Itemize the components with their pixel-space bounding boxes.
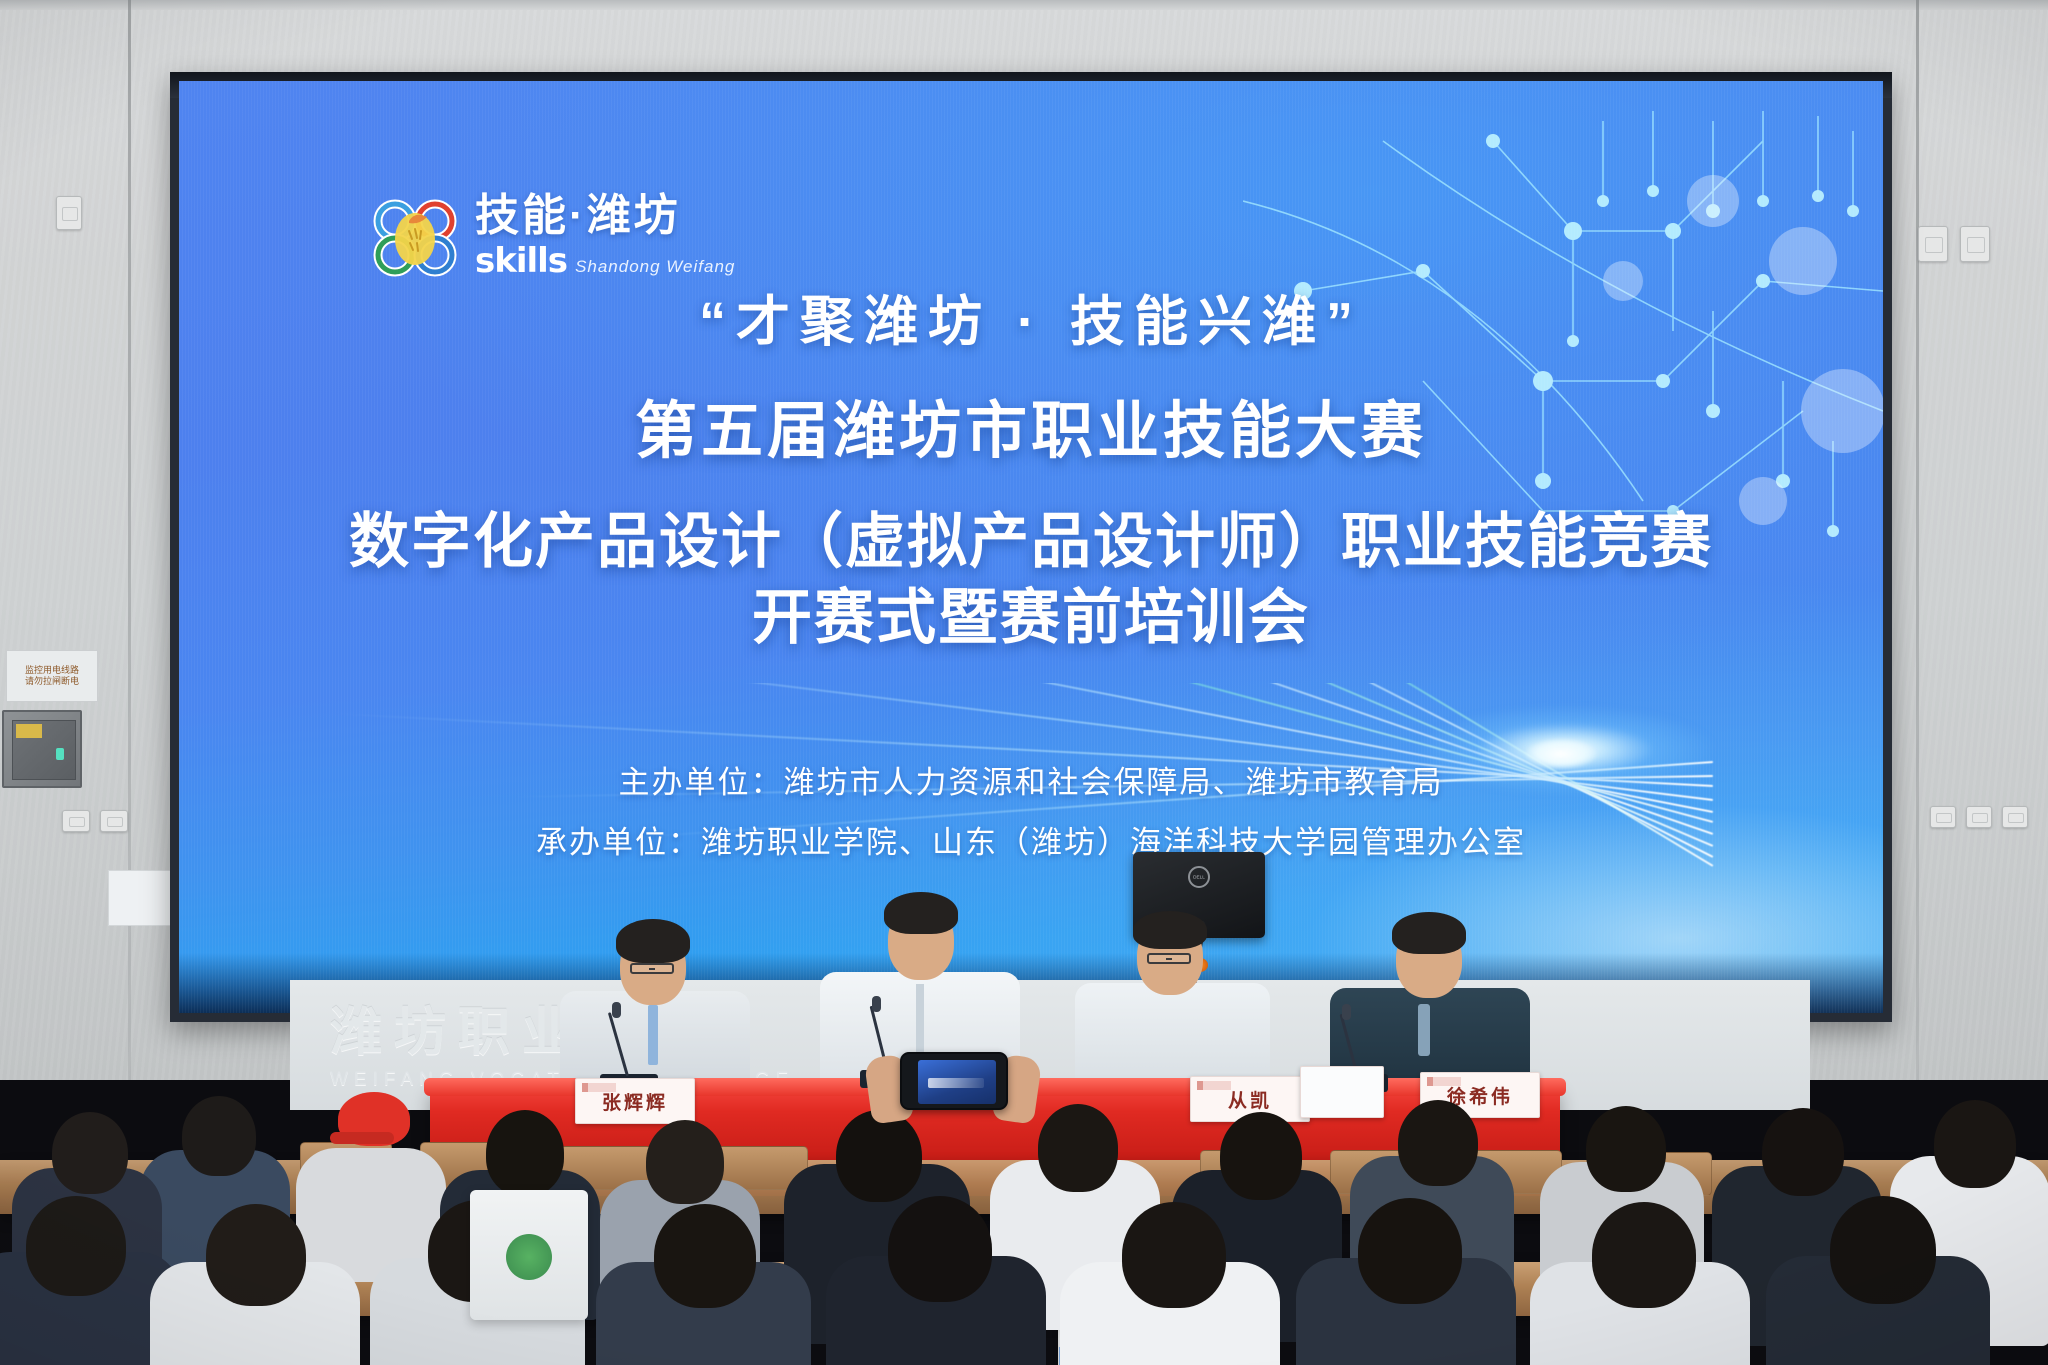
competition-title-line1: 数字化产品设计（虚拟产品设计师）职业技能竞赛 [179,504,1883,580]
power-outlet-icon [1930,806,1956,828]
power-outlet-icon [2002,806,2028,828]
power-outlet-icon [62,810,90,832]
co-organizer: 承办单位：潍坊职业学院、山东（潍坊）海洋科技大学园管理办公室 [179,813,1883,873]
audience-head [1762,1108,1844,1196]
audience-head [1220,1112,1302,1200]
power-outlet-icon [100,810,128,832]
audience-head [1934,1100,2016,1188]
audience-head [646,1120,724,1204]
logo-subtitle-en: Shandong Weifang [575,257,735,277]
wall-paper-note [108,870,174,926]
audience-head [836,1110,922,1202]
audience-head [1358,1198,1462,1304]
panel-indicator-icon [56,748,64,760]
logo-text-block: 技能·潍坊 skills Shandong Weifang [475,193,735,281]
event-title: 第五届潍坊市职业技能大赛 [179,380,1883,470]
red-cap-icon [338,1092,410,1146]
audience-head [52,1112,128,1194]
warning-line-2: 请勿拉闸断电 [25,676,79,687]
logo-title-cn: 技能·潍坊 [475,193,735,239]
audience-head [1586,1106,1666,1192]
audience-head [1398,1100,1478,1186]
smartphone-icon [900,1052,1008,1110]
host-organization: 主办单位：潍坊市人力资源和社会保障局、潍坊市教育局 [179,753,1883,813]
audience-head [206,1204,306,1306]
tote-bag-logo [506,1234,552,1280]
electrical-panel [2,710,82,788]
warning-line-1: 监控用电线路 [25,665,79,676]
organizer-block: 主办单位：潍坊市人力资源和社会保障局、潍坊市教育局 承办单位：潍坊职业学院、山东… [179,753,1883,874]
audience-head [486,1110,564,1196]
olympic-rings-icon [369,191,461,283]
phone-screen-preview [918,1060,996,1104]
audience-head [888,1196,992,1302]
audience-head [654,1204,756,1308]
audience-head [1038,1104,1118,1192]
power-outlet-icon [1966,806,1992,828]
screen-title-block: “才聚潍坊 · 技能兴潍” 第五届潍坊市职业技能大赛 数字化产品设计（虚拟产品设… [179,277,1883,655]
led-display-frame: 技能·潍坊 skills Shandong Weifang “才聚潍坊 · 技能… [170,72,1892,1022]
tote-bag [470,1190,588,1320]
competition-title-line2: 开赛式暨赛前培训会 [179,580,1883,656]
audience-head [1830,1196,1936,1304]
audience-head [1122,1202,1226,1308]
logo-skills-word: skills [475,241,567,281]
audience-head [1592,1202,1696,1308]
conference-photo-scene: 监控用电线路 请勿拉闸断电 [0,0,2048,1365]
electrical-warning-sign: 监控用电线路 请勿拉闸断电 [6,650,98,702]
power-outlet-icon [56,196,82,230]
wall-seam [1916,0,1919,1080]
ceiling-edge [0,0,2048,10]
audience-head [26,1196,126,1296]
power-outlet-icon [1918,226,1948,262]
audience-area [0,1000,2048,1365]
audience-head [182,1096,256,1176]
led-display-content: 技能·潍坊 skills Shandong Weifang “才聚潍坊 · 技能… [179,81,1883,1013]
power-outlet-icon [1960,226,1990,262]
event-slogan: “才聚潍坊 · 技能兴潍” [179,277,1883,356]
skills-weifang-logo: 技能·潍坊 skills Shandong Weifang [369,191,735,283]
dell-logo [1188,866,1210,888]
